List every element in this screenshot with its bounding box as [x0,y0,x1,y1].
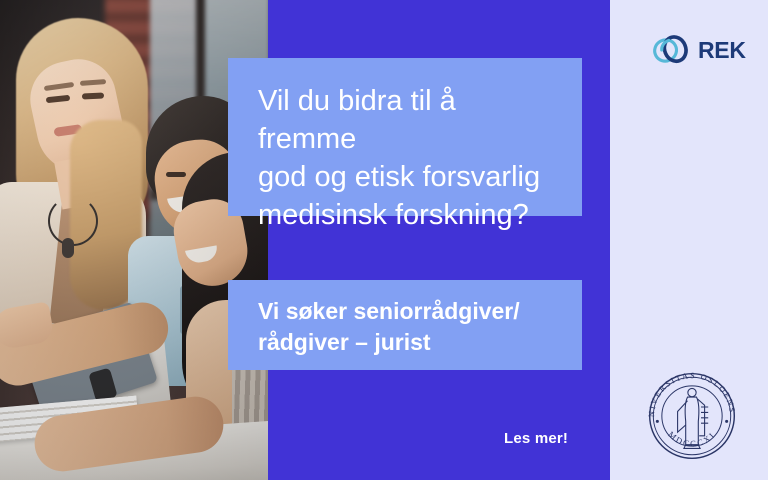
read-more-cta[interactable]: Les mer! [504,430,568,447]
recruitment-banner: REK Vil du bidra til å fremme god og eti… [0,0,768,480]
headline-box: Vil du bidra til å fremme god og etisk f… [228,58,582,216]
rek-interlocking-rings-icon [650,28,694,72]
photo-person-b-eye-left [166,172,186,177]
job-title-box: Vi søker seniorrådgiver/ rådgiver – juri… [228,280,582,370]
seal-top-text: UNIVERSITAS OSLOENSIS [638,362,737,417]
svg-text:UNIVERSITAS OSLOENSIS: UNIVERSITAS OSLOENSIS [638,362,737,417]
svg-text:MDCCCXI: MDCCCXI [666,429,717,449]
rek-wordmark: REK [698,39,746,62]
photo-person-a-necklace [48,196,98,246]
rek-logo: REK [650,26,746,74]
university-of-oslo-seal: UNIVERSITAS OSLOENSIS MDCCCXI [638,362,746,470]
headline-text: Vil du bidra til å fremme god og etisk f… [258,82,558,234]
photo-person-a-pendant [62,238,74,258]
seal-bottom-text: MDCCCXI [666,429,717,449]
job-title-text: Vi søker seniorrådgiver/ rådgiver – juri… [258,296,562,358]
photo-person-a-eye-right [82,92,104,99]
